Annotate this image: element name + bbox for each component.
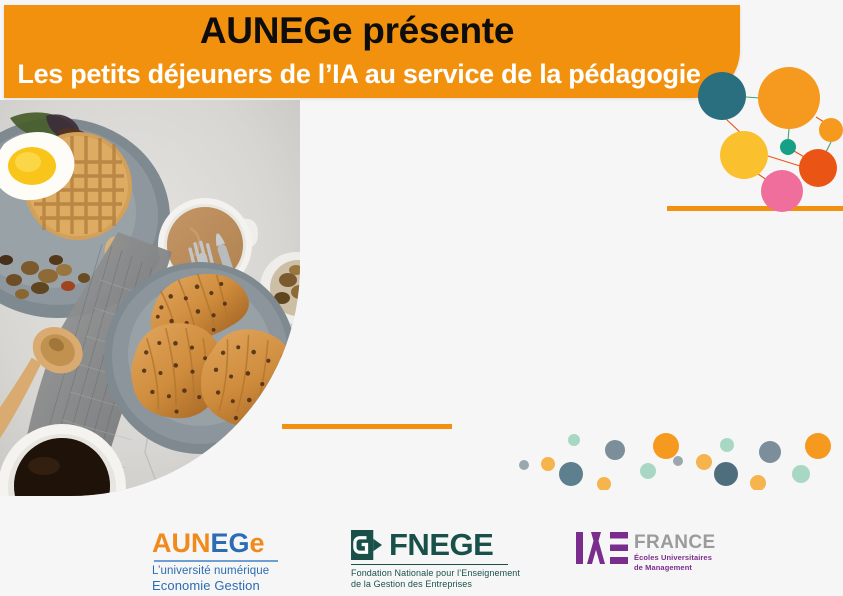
- fnege-tagline-line1: Fondation Nationale pour l’Enseignement: [351, 568, 511, 579]
- node-orange-small: [819, 118, 843, 142]
- page-subtitle: Les petits déjeuners de l’IA au service …: [4, 57, 740, 91]
- fnege-mark-icon: [351, 530, 382, 560]
- logo-iae-france: FRANCE Écoles Universitaires de Manageme…: [576, 532, 701, 578]
- fnege-wordmark: FNEGE: [389, 529, 493, 561]
- accent-rule-middle: [282, 424, 452, 429]
- iae-wordmark-france: FRANCE: [634, 533, 716, 553]
- page-title: AUNEGe présente: [4, 9, 740, 53]
- breakfast-photo-illustration: [0, 100, 300, 496]
- node-orange-large: [758, 67, 820, 129]
- fnege-divider: [351, 564, 508, 565]
- network-graphic: [688, 52, 843, 212]
- network-graphic-illustration: [688, 52, 843, 212]
- scatter-dots-graphic: [505, 418, 843, 490]
- logo-aunege: AUNEGe L’université numérique Economie G…: [152, 528, 284, 584]
- aunege-wordmark-aun: AUN: [152, 528, 211, 558]
- aunege-wordmark-eg: EG: [211, 528, 250, 558]
- aunege-tagline-line2: Economie Gestion: [152, 578, 284, 593]
- aunege-wordmark-e: e: [250, 528, 265, 558]
- slide-canvas: AUNEGe présente Les petits déjeuners de …: [0, 0, 843, 596]
- fnege-lockup: FNEGE: [351, 529, 511, 561]
- iae-tagline-line1: Écoles Universitaires: [634, 553, 716, 563]
- iae-monogram-icon: [576, 532, 628, 564]
- node-red-orange: [799, 149, 837, 187]
- aunege-tagline-line1: L’université numérique: [152, 565, 284, 578]
- logo-fnege: FNEGE Fondation Nationale pour l’Enseign…: [351, 529, 511, 583]
- node-green-dot: [780, 139, 796, 155]
- breakfast-photo: [0, 100, 300, 496]
- node-pink: [761, 170, 803, 212]
- partner-logos: AUNEGe L’université numérique Economie G…: [0, 520, 843, 590]
- node-yellow: [720, 131, 768, 179]
- iae-tagline-line2: de Management: [634, 563, 716, 573]
- aunege-wordmark: AUNEGe: [152, 528, 284, 558]
- fnege-tagline-line2: de la Gestion des Entreprises: [351, 579, 511, 590]
- aunege-divider: [154, 560, 278, 562]
- node-teal: [698, 72, 746, 120]
- title-banner: AUNEGe présente Les petits déjeuners de …: [4, 5, 740, 98]
- iae-textblock: FRANCE Écoles Universitaires de Manageme…: [634, 532, 716, 572]
- scatter-dots-illustration: [505, 418, 843, 490]
